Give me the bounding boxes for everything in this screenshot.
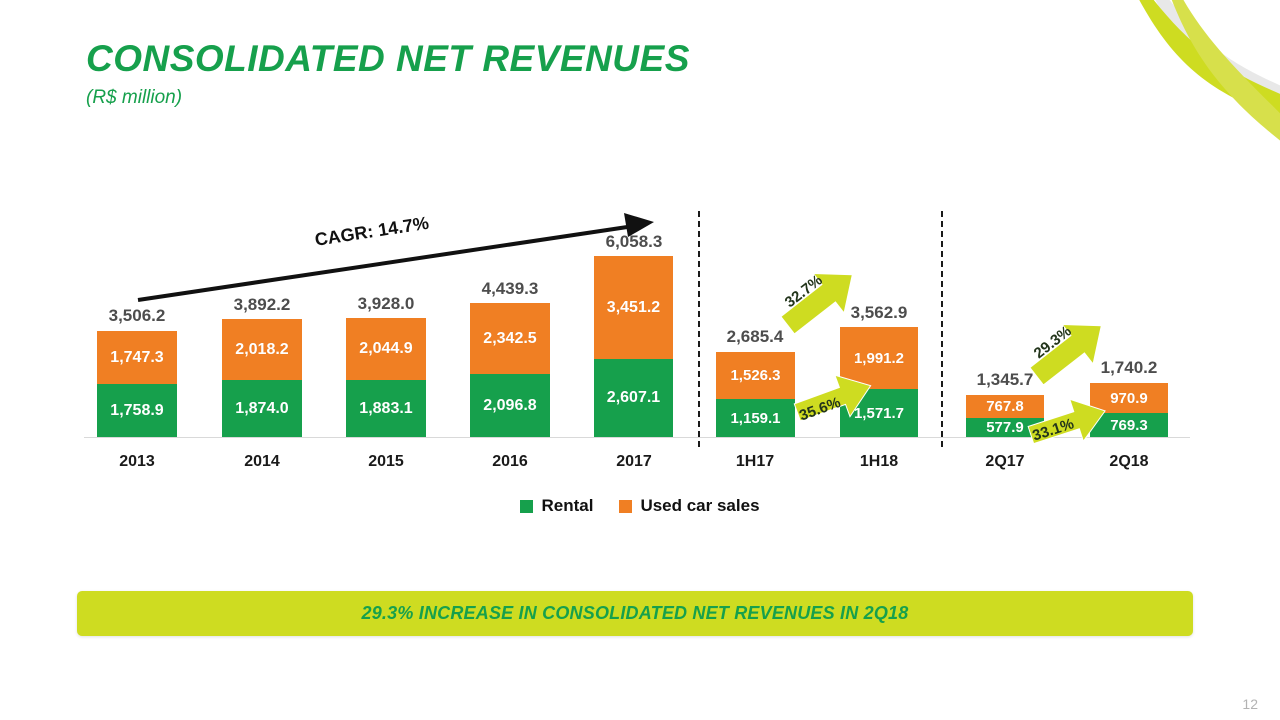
legend-item-used-car-sales[interactable]: Used car sales	[619, 496, 759, 516]
bar-segment-used-car-2015: 2,044.9	[346, 318, 426, 380]
segment-value-label: 2,607.1	[607, 389, 660, 407]
legend-item-rental[interactable]: Rental	[520, 496, 593, 516]
segment-value-label: 2,096.8	[483, 397, 536, 415]
segment-value-label: 1,874.0	[235, 400, 288, 418]
segment-value-label: 2,342.5	[483, 330, 536, 348]
bar-2013: 1,747.3 1,758.9	[97, 331, 177, 437]
bar-segment-used-car-2016: 2,342.5	[470, 303, 550, 374]
segment-value-label: 1,883.1	[359, 400, 412, 418]
callout-banner: 29.3% INCREASE IN CONSOLIDATED NET REVEN…	[77, 591, 1193, 636]
bar-segment-used-car-1h17: 1,526.3	[716, 352, 795, 399]
segment-value-label: 769.3	[1110, 417, 1148, 434]
legend-swatch-icon-rental	[520, 500, 533, 513]
segment-value-label: 1,991.2	[854, 350, 904, 367]
bar-segment-used-car-2013: 1,747.3	[97, 331, 177, 384]
bar-segment-used-car-2014: 2,018.2	[222, 319, 302, 380]
segment-value-label: 3,451.2	[607, 299, 660, 317]
segment-value-label: 577.9	[986, 419, 1024, 436]
chart-legend: Rental Used car sales	[0, 496, 1280, 516]
bar-2014: 2,018.2 1,874.0	[222, 319, 302, 437]
callout-banner-text: 29.3% INCREASE IN CONSOLIDATED NET REVEN…	[362, 603, 909, 624]
bar-segment-used-car-2017: 3,451.2	[594, 256, 673, 359]
page-number: 12	[1242, 696, 1258, 712]
bar-2015: 2,044.9 1,883.1	[346, 318, 426, 437]
total-label-2016: 4,439.3	[430, 279, 590, 299]
category-label-2q18: 2Q18	[1049, 453, 1209, 471]
segment-value-label: 1,747.3	[110, 349, 163, 367]
legend-swatch-icon-used-car-sales	[619, 500, 632, 513]
segment-value-label: 2,018.2	[235, 341, 288, 359]
bar-segment-rental-2016: 2,096.8	[470, 374, 550, 437]
legend-label-rental: Rental	[541, 496, 593, 516]
bar-segment-rental-2017: 2,607.1	[594, 359, 673, 437]
segment-value-label: 767.8	[986, 398, 1024, 415]
bar-segment-rental-2015: 1,883.1	[346, 380, 426, 437]
chart-plot-area: CAGR: 14.7% 3,506.2 1,747.3 1,758.9 2013…	[0, 0, 1280, 560]
segment-value-label: 1,526.3	[730, 367, 780, 384]
group-separator-2	[941, 211, 943, 447]
bar-2017: 3,451.2 2,607.1	[594, 256, 673, 437]
bar-2016: 2,342.5 2,096.8	[470, 303, 550, 437]
total-label-2017: 6,058.3	[554, 232, 714, 252]
bar-segment-rental-1h17: 1,159.1	[716, 399, 795, 437]
segment-value-label: 1,159.1	[730, 410, 780, 427]
slide-root: CONSOLIDATED NET REVENUES (R$ million) C…	[0, 0, 1280, 720]
chart-baseline	[84, 437, 1190, 438]
segment-value-label: 1,758.9	[110, 402, 163, 420]
segment-value-label: 2,044.9	[359, 340, 412, 358]
legend-label-used-car-sales: Used car sales	[640, 496, 759, 516]
bar-segment-rental-2014: 1,874.0	[222, 380, 302, 437]
segment-value-label: 970.9	[1110, 390, 1148, 407]
bar-segment-rental-2013: 1,758.9	[97, 384, 177, 437]
bar-1h17: 1,526.3 1,159.1	[716, 352, 795, 437]
